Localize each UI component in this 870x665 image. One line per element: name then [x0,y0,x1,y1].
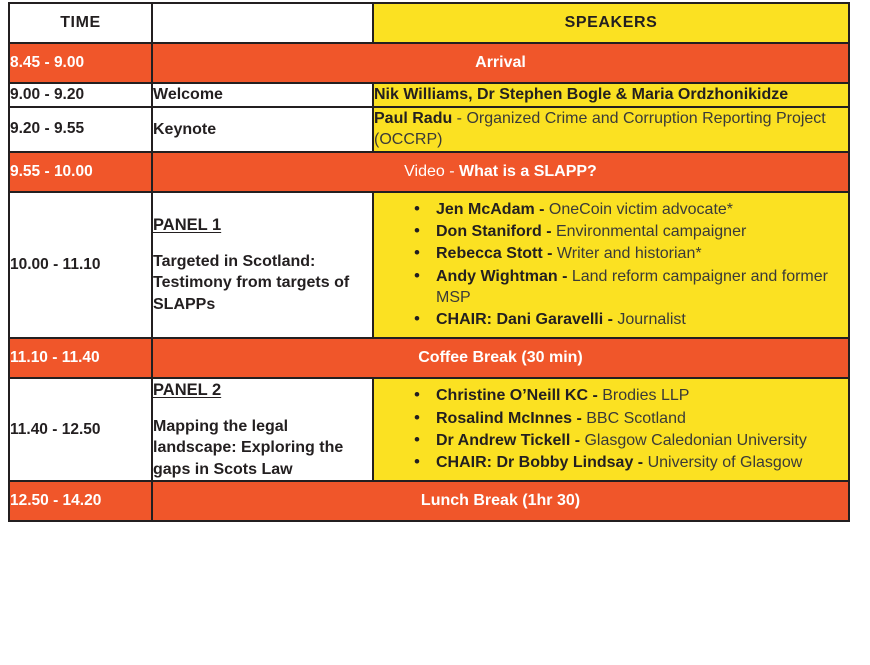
table-row: 9.00 - 9.20 Welcome Nik Williams, Dr Ste… [9,83,849,107]
row-time: 9.00 - 9.20 [9,83,152,107]
row-time: 9.55 - 10.00 [9,152,152,192]
schedule-sheet: TIME SPEAKERS 8.45 - 9.00 Arrival 9.00 -… [0,0,870,665]
table-row: 11.10 - 11.40 Coffee Break (30 min) [9,338,849,378]
speaker-role: University of Glasgow [648,454,803,471]
speaker-name: Nik Williams, Dr Stephen Bogle & Maria O… [374,86,788,103]
speaker-name: Don Staniford [436,223,542,240]
speaker-role: Writer and historian* [557,245,702,262]
row-speakers: Nik Williams, Dr Stephen Bogle & Maria O… [373,83,849,107]
speaker-name: Paul Radu [374,110,452,127]
break-lead-text: Video - [404,163,459,180]
speaker-name: Jen McAdam [436,201,535,218]
row-time: 10.00 - 11.10 [9,192,152,339]
speaker-role: Brodies LLP [602,387,689,404]
row-speakers: Jen McAdam - OneCoin victim advocate* Do… [373,192,849,339]
speaker-list: Christine O’Neill KC - Brodies LLP Rosal… [374,379,848,480]
row-break-label: Lunch Break (1hr 30) [152,481,849,521]
panel-tag: PANEL 1 [153,215,221,237]
column-header-time: TIME [9,3,152,43]
list-item: Dr Andrew Tickell - Glasgow Caledonian U… [414,430,840,451]
row-time: 11.40 - 12.50 [9,378,152,481]
speaker-role: OneCoin victim advocate* [549,201,733,218]
row-time: 12.50 - 14.20 [9,481,152,521]
list-item: Andy Wightman - Land reform campaigner a… [414,266,840,309]
row-break-label: Coffee Break (30 min) [152,338,849,378]
table-row: 10.00 - 11.10 PANEL 1 Targeted in Scotla… [9,192,849,339]
break-main-text: Coffee Break (30 min) [418,349,583,366]
break-main-text: What is a SLAPP? [459,163,597,180]
row-time: 8.45 - 9.00 [9,43,152,83]
speaker-dash: - [633,454,647,471]
session-name: Mapping the legal landscape: Exploring t… [153,416,372,480]
panel-tag: PANEL 2 [153,380,221,402]
break-main-text: Arrival [475,54,526,71]
speaker-name: Rosalind McInnes [436,410,572,427]
speaker-dash: - [542,223,556,240]
row-session-title: PANEL 2 Mapping the legal landscape: Exp… [152,378,373,481]
row-speakers: Paul Radu - Organized Crime and Corrupti… [373,107,849,152]
row-session-title: Welcome [152,83,373,107]
list-item: Rosalind McInnes - BBC Scotland [414,408,840,429]
row-speakers: Christine O’Neill KC - Brodies LLP Rosal… [373,378,849,481]
list-item: CHAIR: Dani Garavelli - Journalist [414,309,840,330]
speaker-dash: - [570,432,584,449]
list-item: Rebecca Stott - Writer and historian* [414,243,840,264]
speaker-role: Environmental campaigner [556,223,746,240]
speaker-dash: - [572,410,586,427]
speaker-dash: - [558,268,572,285]
column-header-speakers: SPEAKERS [373,3,849,43]
speaker-role: Journalist [617,311,685,328]
table-row: 8.45 - 9.00 Arrival [9,43,849,83]
row-break-label: Video - What is a SLAPP? [152,152,849,192]
speaker-name: Dr Andrew Tickell [436,432,570,449]
table-row: 9.55 - 10.00 Video - What is a SLAPP? [9,152,849,192]
speaker-name: CHAIR: Dani Garavelli [436,311,603,328]
list-item: CHAIR: Dr Bobby Lindsay - University of … [414,452,840,473]
conference-schedule-table: TIME SPEAKERS 8.45 - 9.00 Arrival 9.00 -… [8,2,850,522]
row-time: 11.10 - 11.40 [9,338,152,378]
session-name: Targeted in Scotland: Testimony from tar… [153,251,372,315]
row-session-title: Keynote [152,107,373,152]
speaker-name: Andy Wightman [436,268,558,285]
speaker-name: Rebecca Stott [436,245,543,262]
row-time: 9.20 - 9.55 [9,107,152,152]
table-row: 9.20 - 9.55 Keynote Paul Radu - Organize… [9,107,849,152]
speaker-name: CHAIR: Dr Bobby Lindsay [436,454,633,471]
speaker-dash: - [588,387,602,404]
break-main-text: Lunch Break (1hr 30) [421,492,580,509]
speaker-dash: - [603,311,617,328]
column-header-blank [152,3,373,43]
list-item: Jen McAdam - OneCoin victim advocate* [414,199,840,220]
list-item: Don Staniford - Environmental campaigner [414,221,840,242]
row-session-title: PANEL 1 Targeted in Scotland: Testimony … [152,192,373,339]
table-header-row: TIME SPEAKERS [9,3,849,43]
table-row: 12.50 - 14.20 Lunch Break (1hr 30) [9,481,849,521]
speaker-list: Jen McAdam - OneCoin victim advocate* Do… [374,193,848,338]
row-break-label: Arrival [152,43,849,83]
speaker-dash: - [535,201,549,218]
speaker-dash: - [543,245,557,262]
speaker-name: Christine O’Neill KC [436,387,588,404]
table-row: 11.40 - 12.50 PANEL 2 Mapping the legal … [9,378,849,481]
list-item: Christine O’Neill KC - Brodies LLP [414,385,840,406]
speaker-role: BBC Scotland [586,410,686,427]
speaker-role: Glasgow Caledonian University [584,432,806,449]
